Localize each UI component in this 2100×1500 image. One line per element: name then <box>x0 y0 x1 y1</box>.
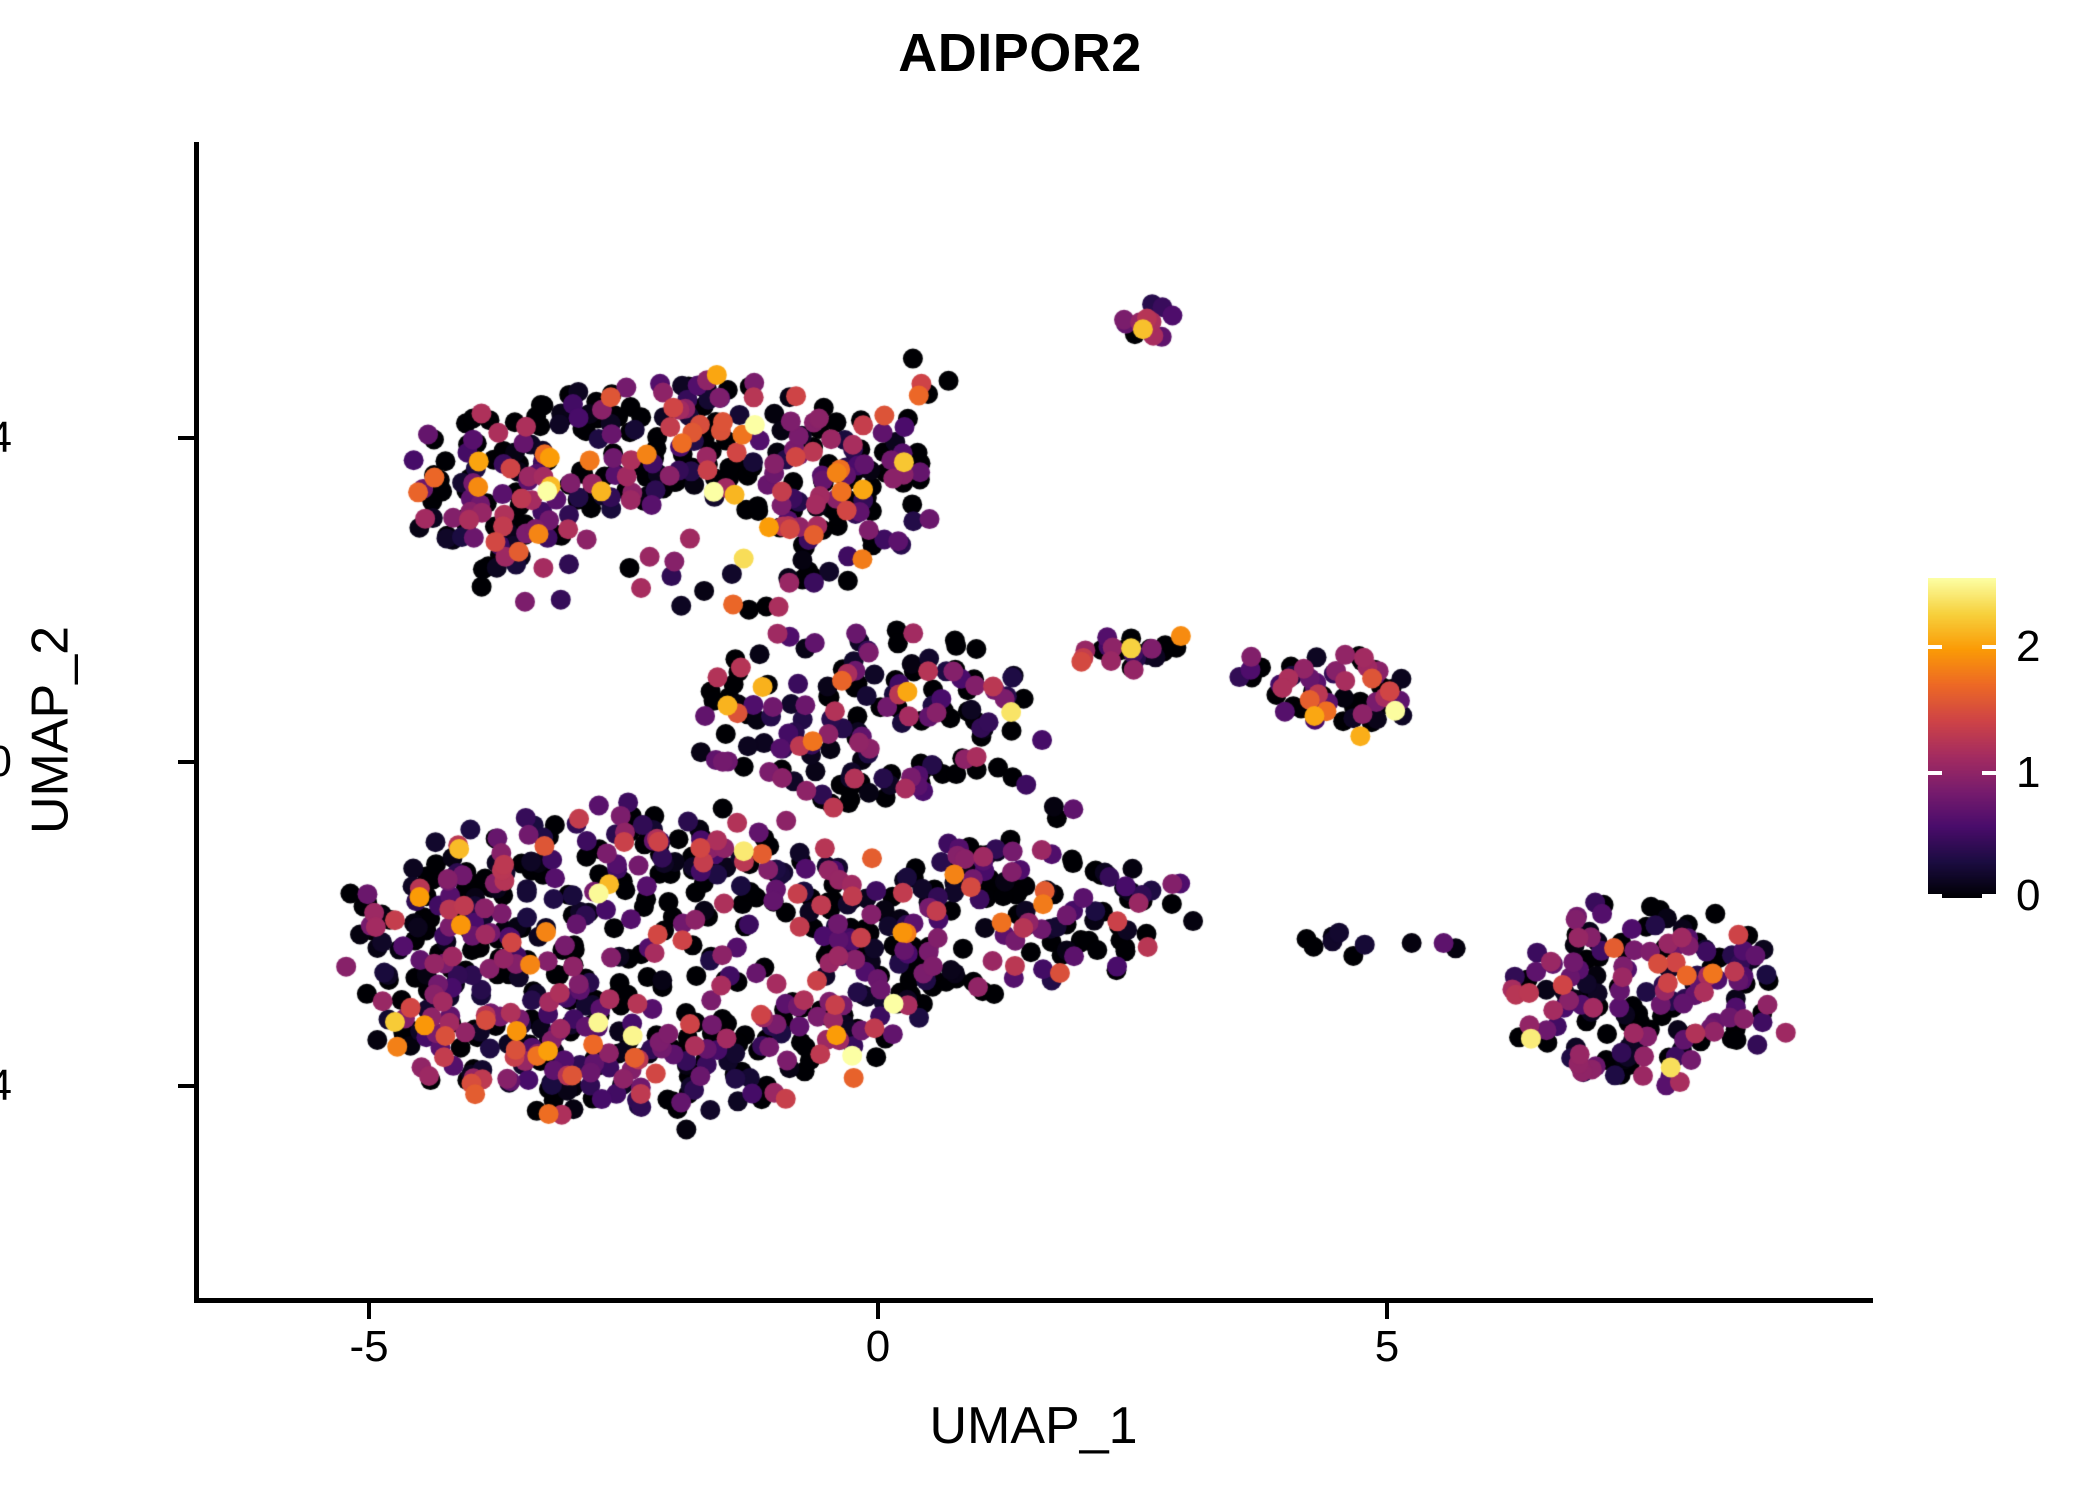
colorbar-label-2: 2 <box>2016 622 2040 672</box>
expression-colorbar-legend: 2 1 0 <box>1928 578 1996 898</box>
y-tick-mark-neg4 <box>178 1084 194 1088</box>
x-tick-mark-0 <box>876 1303 880 1319</box>
colorbar-tick-right-2 <box>1982 645 1996 649</box>
colorbar-tick-right-0 <box>1982 894 1996 898</box>
y-tick-mark-0 <box>178 760 194 764</box>
y-tick-mark-4 <box>178 436 194 440</box>
y-tick-label-4: 4 <box>0 413 12 463</box>
x-tick-mark-5 <box>1385 1303 1389 1319</box>
colorbar-tick-left-1 <box>1928 771 1942 775</box>
colorbar-tick-left-2 <box>1928 645 1942 649</box>
y-tick-label-0: 0 <box>0 737 12 787</box>
colorbar-tick-right-1 <box>1982 771 1996 775</box>
plot-area <box>0 0 2100 1500</box>
y-tick-label-neg4: -4 <box>0 1061 12 1111</box>
x-tick-label-5: 5 <box>1375 1322 1399 1372</box>
colorbar-tick-left-0 <box>1928 894 1942 898</box>
x-axis-title: UMAP_1 <box>194 1396 1873 1456</box>
colorbar-label-1: 1 <box>2016 748 2040 798</box>
scatter-plot-canvas <box>0 0 2100 1500</box>
x-tick-label-neg5: -5 <box>349 1322 388 1372</box>
feature-plot-figure: ADIPOR2 4 0 -4 -5 0 5 UMAP_1 UMAP_2 2 1 … <box>0 0 2100 1500</box>
colorbar-label-0: 0 <box>2016 871 2040 921</box>
x-tick-label-0: 0 <box>866 1322 890 1372</box>
colorbar-gradient <box>1928 578 1996 898</box>
x-axis-line <box>194 1298 1873 1303</box>
y-axis-line <box>194 142 199 1303</box>
x-tick-mark-neg5 <box>367 1303 371 1319</box>
y-axis-title: UMAP_2 <box>21 150 81 1311</box>
